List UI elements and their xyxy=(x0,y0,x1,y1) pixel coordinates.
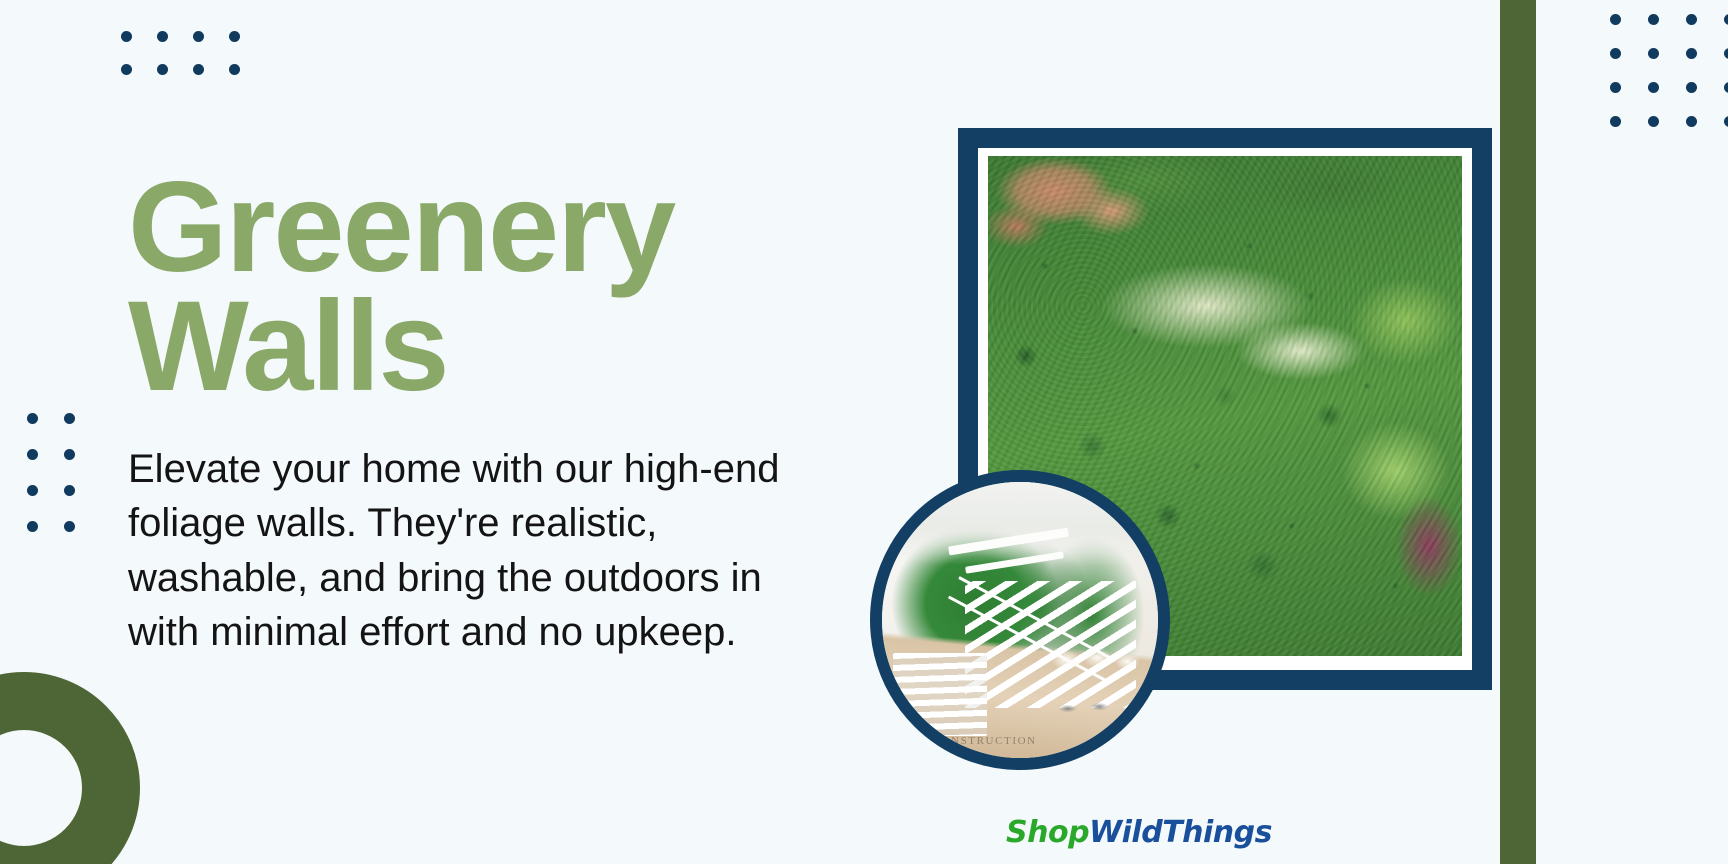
interior-room-image: NEW CONSTRUCTION xyxy=(882,482,1158,758)
dot xyxy=(1648,116,1659,127)
brand-logo[interactable]: ShopWildThings xyxy=(1006,818,1272,848)
dot-grid-top-left xyxy=(108,20,252,86)
dot xyxy=(1686,82,1697,93)
dot xyxy=(121,31,132,42)
dot xyxy=(1686,116,1697,127)
dot xyxy=(193,31,204,42)
dot xyxy=(157,64,168,75)
dot-grid-left-middle xyxy=(14,400,88,544)
olive-ring-shape xyxy=(0,672,140,864)
bar-stools xyxy=(1042,639,1141,733)
dot xyxy=(64,449,75,460)
dot xyxy=(1610,116,1621,127)
dot xyxy=(27,521,38,532)
dot xyxy=(1610,48,1621,59)
logo-wild-text: Wild xyxy=(1089,815,1162,850)
dot xyxy=(229,64,240,75)
dot xyxy=(64,413,75,424)
dot xyxy=(64,485,75,496)
dot xyxy=(1724,14,1728,25)
logo-things-text: Things xyxy=(1162,815,1272,850)
olive-vertical-band xyxy=(1500,0,1536,864)
dot xyxy=(27,449,38,460)
dot xyxy=(64,521,75,532)
dot xyxy=(27,485,38,496)
dot xyxy=(1724,82,1728,93)
circular-inset-photo: NEW CONSTRUCTION xyxy=(870,470,1170,770)
page-title: Greenery Walls xyxy=(128,168,868,406)
dot xyxy=(1648,48,1659,59)
dot xyxy=(229,31,240,42)
image-watermark: NEW CONSTRUCTION xyxy=(899,735,1037,747)
ceiling-light-fixture-secondary xyxy=(965,552,1064,574)
dot xyxy=(157,31,168,42)
body-paragraph: Elevate your home with our high-end foli… xyxy=(128,406,828,660)
logo-shop-text: Shop xyxy=(1006,815,1089,850)
dot xyxy=(1648,82,1659,93)
dot xyxy=(1648,14,1659,25)
dot xyxy=(121,64,132,75)
dot xyxy=(1724,48,1728,59)
greenery-walls-banner: Greenery Walls Elevate your home with ou… xyxy=(0,0,1728,864)
dot xyxy=(1610,82,1621,93)
text-column: Greenery Walls Elevate your home with ou… xyxy=(128,168,868,660)
dot-grid-top-right xyxy=(1596,2,1728,138)
dot xyxy=(1610,14,1621,25)
dot xyxy=(27,413,38,424)
ceiling-light-fixture xyxy=(948,528,1069,556)
pallet-bench xyxy=(893,653,987,736)
dot xyxy=(193,64,204,75)
dot xyxy=(1724,116,1728,127)
dot xyxy=(1686,48,1697,59)
dot xyxy=(1686,14,1697,25)
